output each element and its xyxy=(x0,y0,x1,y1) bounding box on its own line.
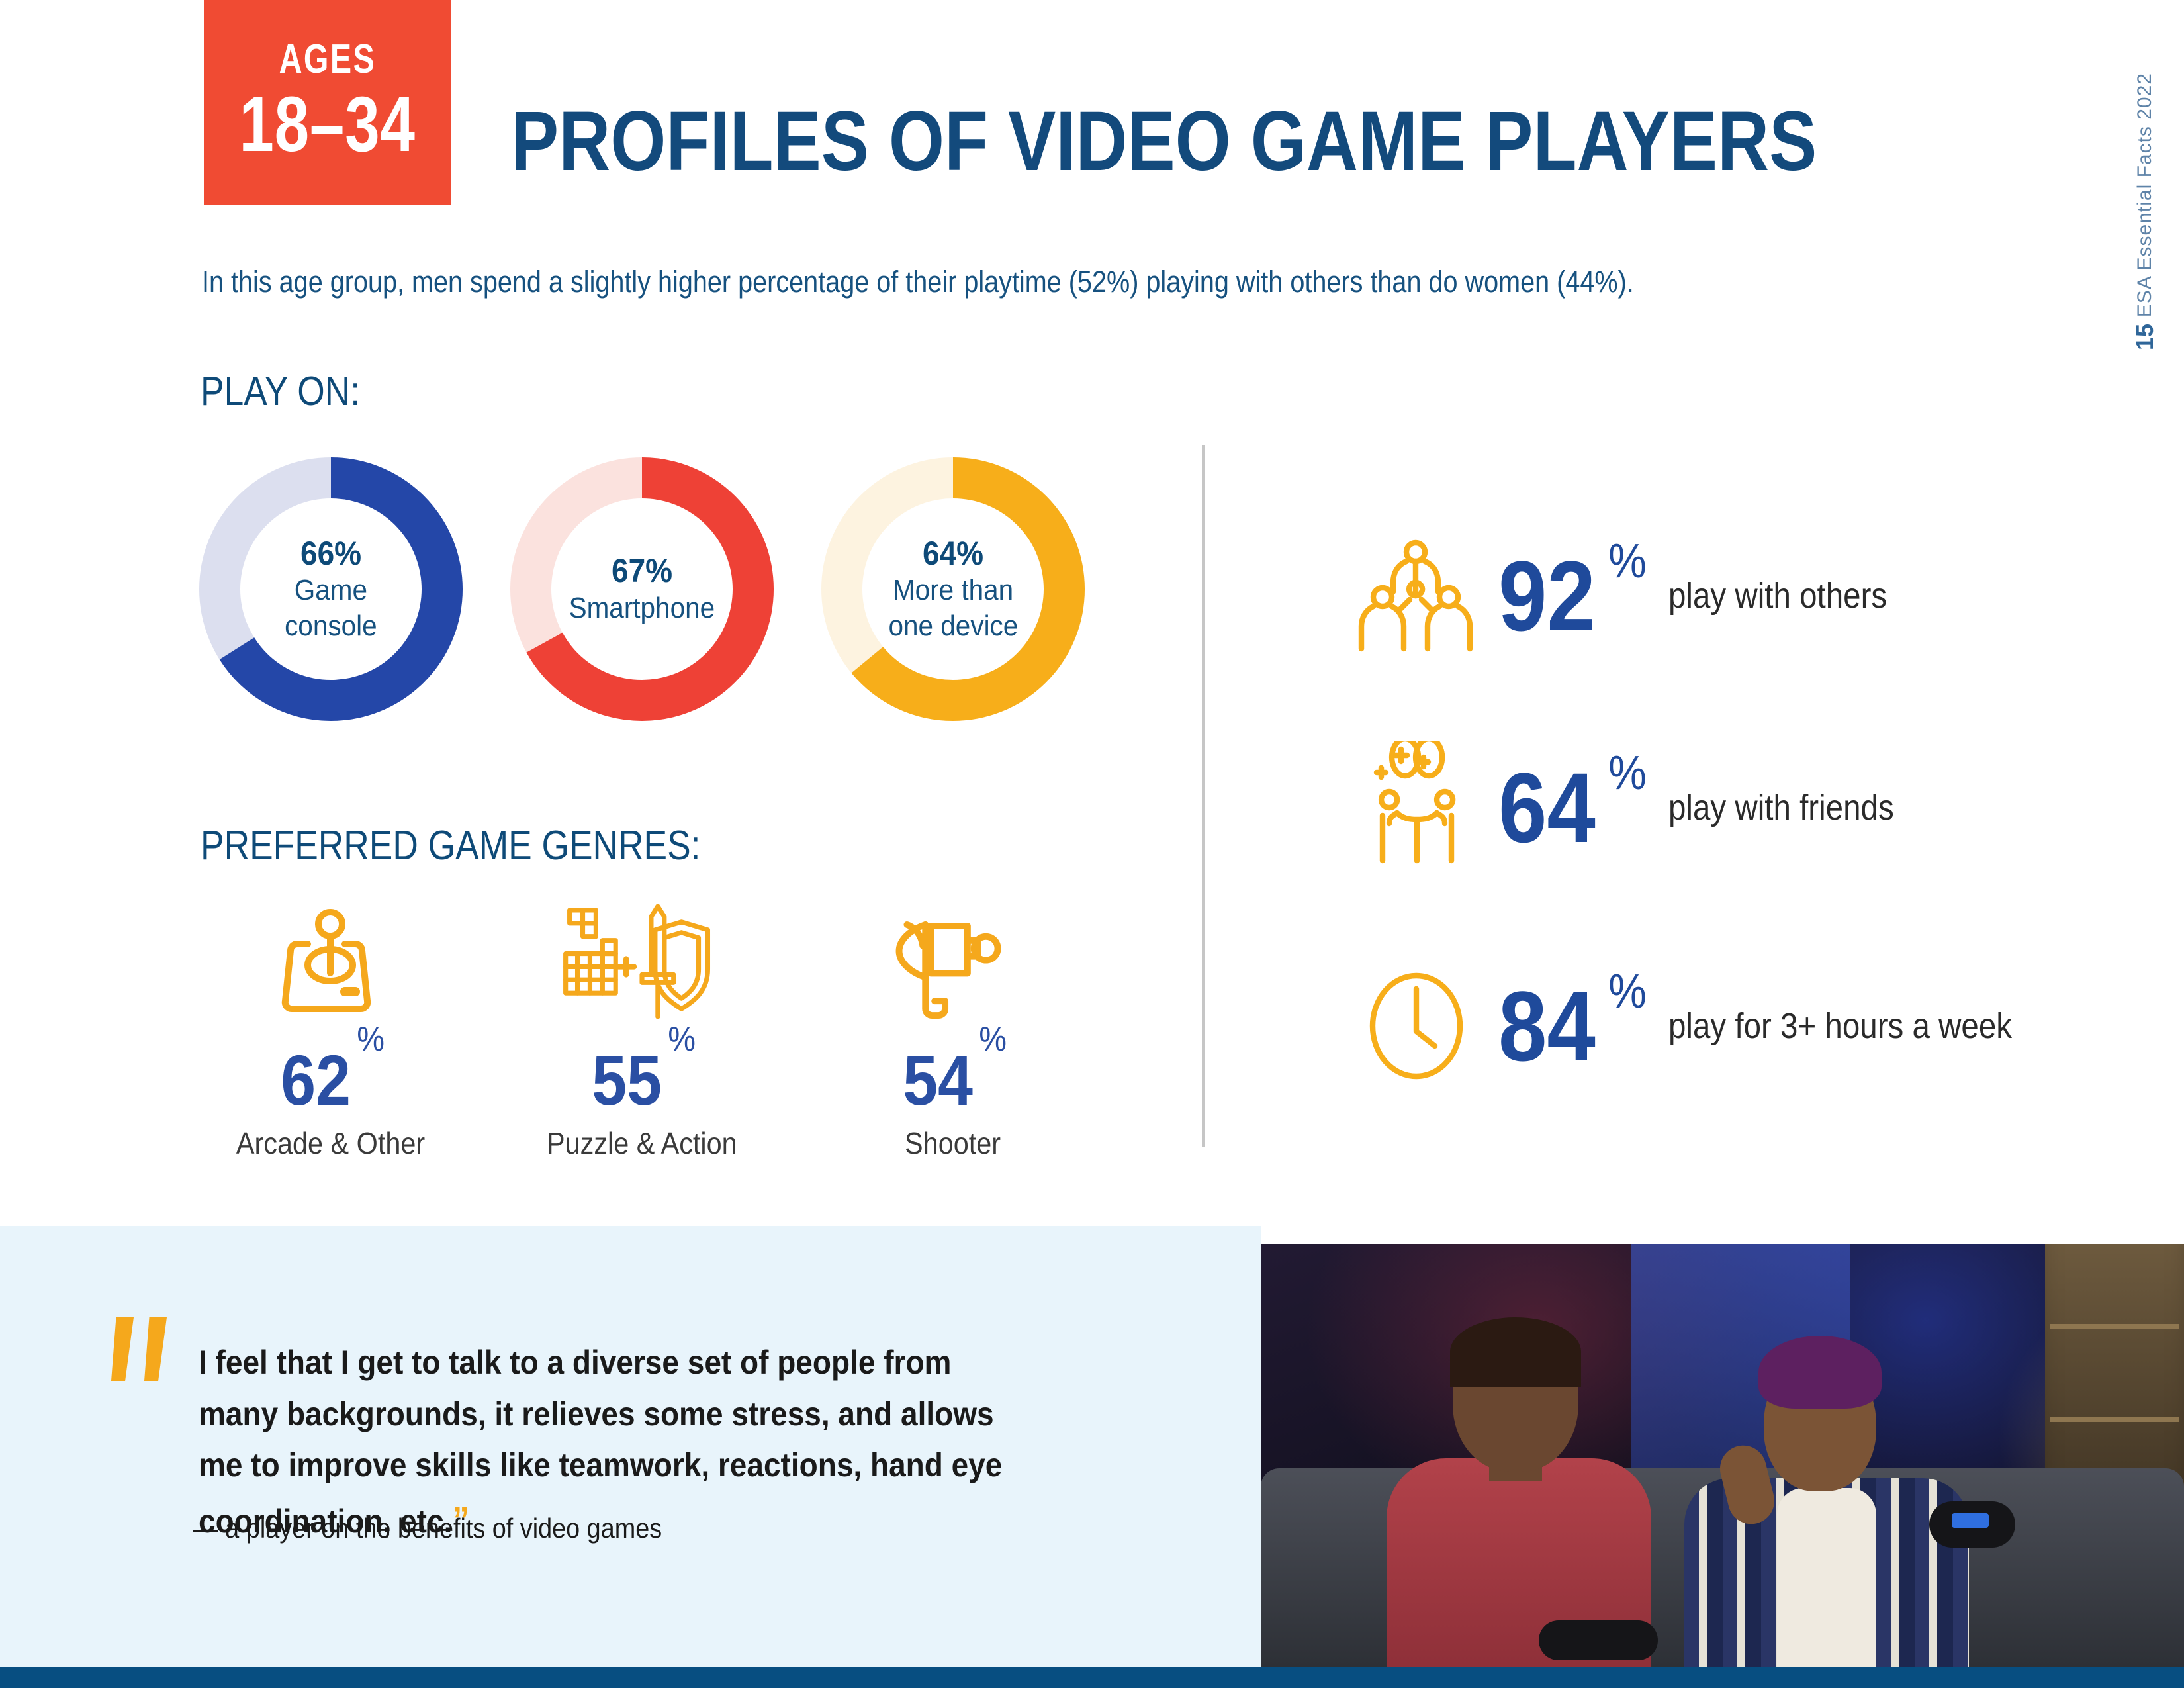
game-controller-right xyxy=(1929,1501,2015,1548)
stat-label: play with friends xyxy=(1668,787,1894,828)
person-right xyxy=(1684,1323,1976,1667)
genre-percent-sign: % xyxy=(357,1019,385,1059)
stat-percent-sign: % xyxy=(1608,538,1647,585)
side-rail: ESA Essential Facts 2022 15 xyxy=(2115,73,2175,444)
stat-number: 64 xyxy=(1498,758,1596,857)
genre-label: Shooter xyxy=(905,1125,1001,1161)
age-range: 18–34 xyxy=(240,84,416,166)
joystick-icon xyxy=(199,894,463,1019)
two-friends-sparkles-icon xyxy=(1343,735,1489,880)
quote-text: I feel that I get to talk to a diverse s… xyxy=(199,1344,1002,1540)
stat-play-hours-per-week: 84 % play for 3+ hours a week xyxy=(1343,953,2059,1099)
clock-icon xyxy=(1343,953,1489,1099)
page-number: 15 xyxy=(2131,324,2159,350)
donut-chart-svg xyxy=(510,457,774,722)
quote-attribution: — a player on the benefits of video game… xyxy=(193,1513,662,1544)
genre-number: 54 xyxy=(903,1045,973,1116)
genres-heading: PREFERRED GAME GENRES: xyxy=(201,822,700,869)
donut-chart-svg xyxy=(199,457,463,722)
footer-bar xyxy=(0,1667,2184,1688)
genre-puzzle-action: 55% Puzzle & Action xyxy=(510,894,774,1161)
donut-game-console: 66% Game console xyxy=(199,457,463,722)
genre-percent-sign: % xyxy=(668,1019,696,1059)
opening-quote-mark xyxy=(111,1317,177,1381)
stat-play-with-others: 92 % play with others xyxy=(1343,523,1917,669)
stat-percent-sign: % xyxy=(1608,968,1647,1015)
play-on-donut-group: 66% Game console 67% Smartphone 64% Mo xyxy=(199,457,1138,735)
page-title: PROFILES OF VIDEO GAME PLAYERS xyxy=(511,93,1817,190)
donut-chart-svg xyxy=(821,457,1085,722)
publication-label: ESA Essential Facts 2022 xyxy=(2134,73,2156,317)
stat-number: 92 xyxy=(1498,546,1596,645)
stat-number: 84 xyxy=(1498,976,1596,1076)
ray-gun-icon xyxy=(821,894,1085,1019)
genre-percent-sign: % xyxy=(979,1019,1007,1059)
stat-play-with-friends: 64 % play with friends xyxy=(1343,735,1925,880)
stat-label: play for 3+ hours a week xyxy=(1668,1006,2012,1047)
age-label: AGES xyxy=(279,39,376,80)
genre-number: 62 xyxy=(281,1045,351,1116)
group-of-three-people-icon xyxy=(1343,523,1489,669)
section-divider xyxy=(1202,445,1205,1147)
genre-arcade-other: 62% Arcade & Other xyxy=(199,894,463,1161)
stat-label: play with others xyxy=(1668,575,1887,616)
genre-label: Arcade & Other xyxy=(236,1125,425,1161)
donut-smartphone: 67% Smartphone xyxy=(510,457,774,722)
age-group-badge: AGES 18–34 xyxy=(204,0,451,205)
page-subtitle: In this age group, men spend a slightly … xyxy=(202,265,1634,299)
game-controller-left xyxy=(1539,1620,1658,1660)
genre-shooter: 54% Shooter xyxy=(821,894,1085,1161)
tetris-sword-shield-icon xyxy=(510,894,774,1019)
genres-group: 62% Arcade & Other xyxy=(199,894,1138,1158)
infographic-page: AGES 18–34 PROFILES OF VIDEO GAME PLAYER… xyxy=(0,0,2184,1688)
genre-number: 55 xyxy=(592,1045,662,1116)
players-photo xyxy=(1261,1244,2184,1667)
play-on-heading: PLAY ON: xyxy=(201,368,360,415)
person-left xyxy=(1380,1323,1664,1667)
stat-percent-sign: % xyxy=(1608,749,1647,797)
donut-more-than-one-device: 64% More than one device xyxy=(821,457,1085,722)
genre-label: Puzzle & Action xyxy=(547,1125,737,1161)
